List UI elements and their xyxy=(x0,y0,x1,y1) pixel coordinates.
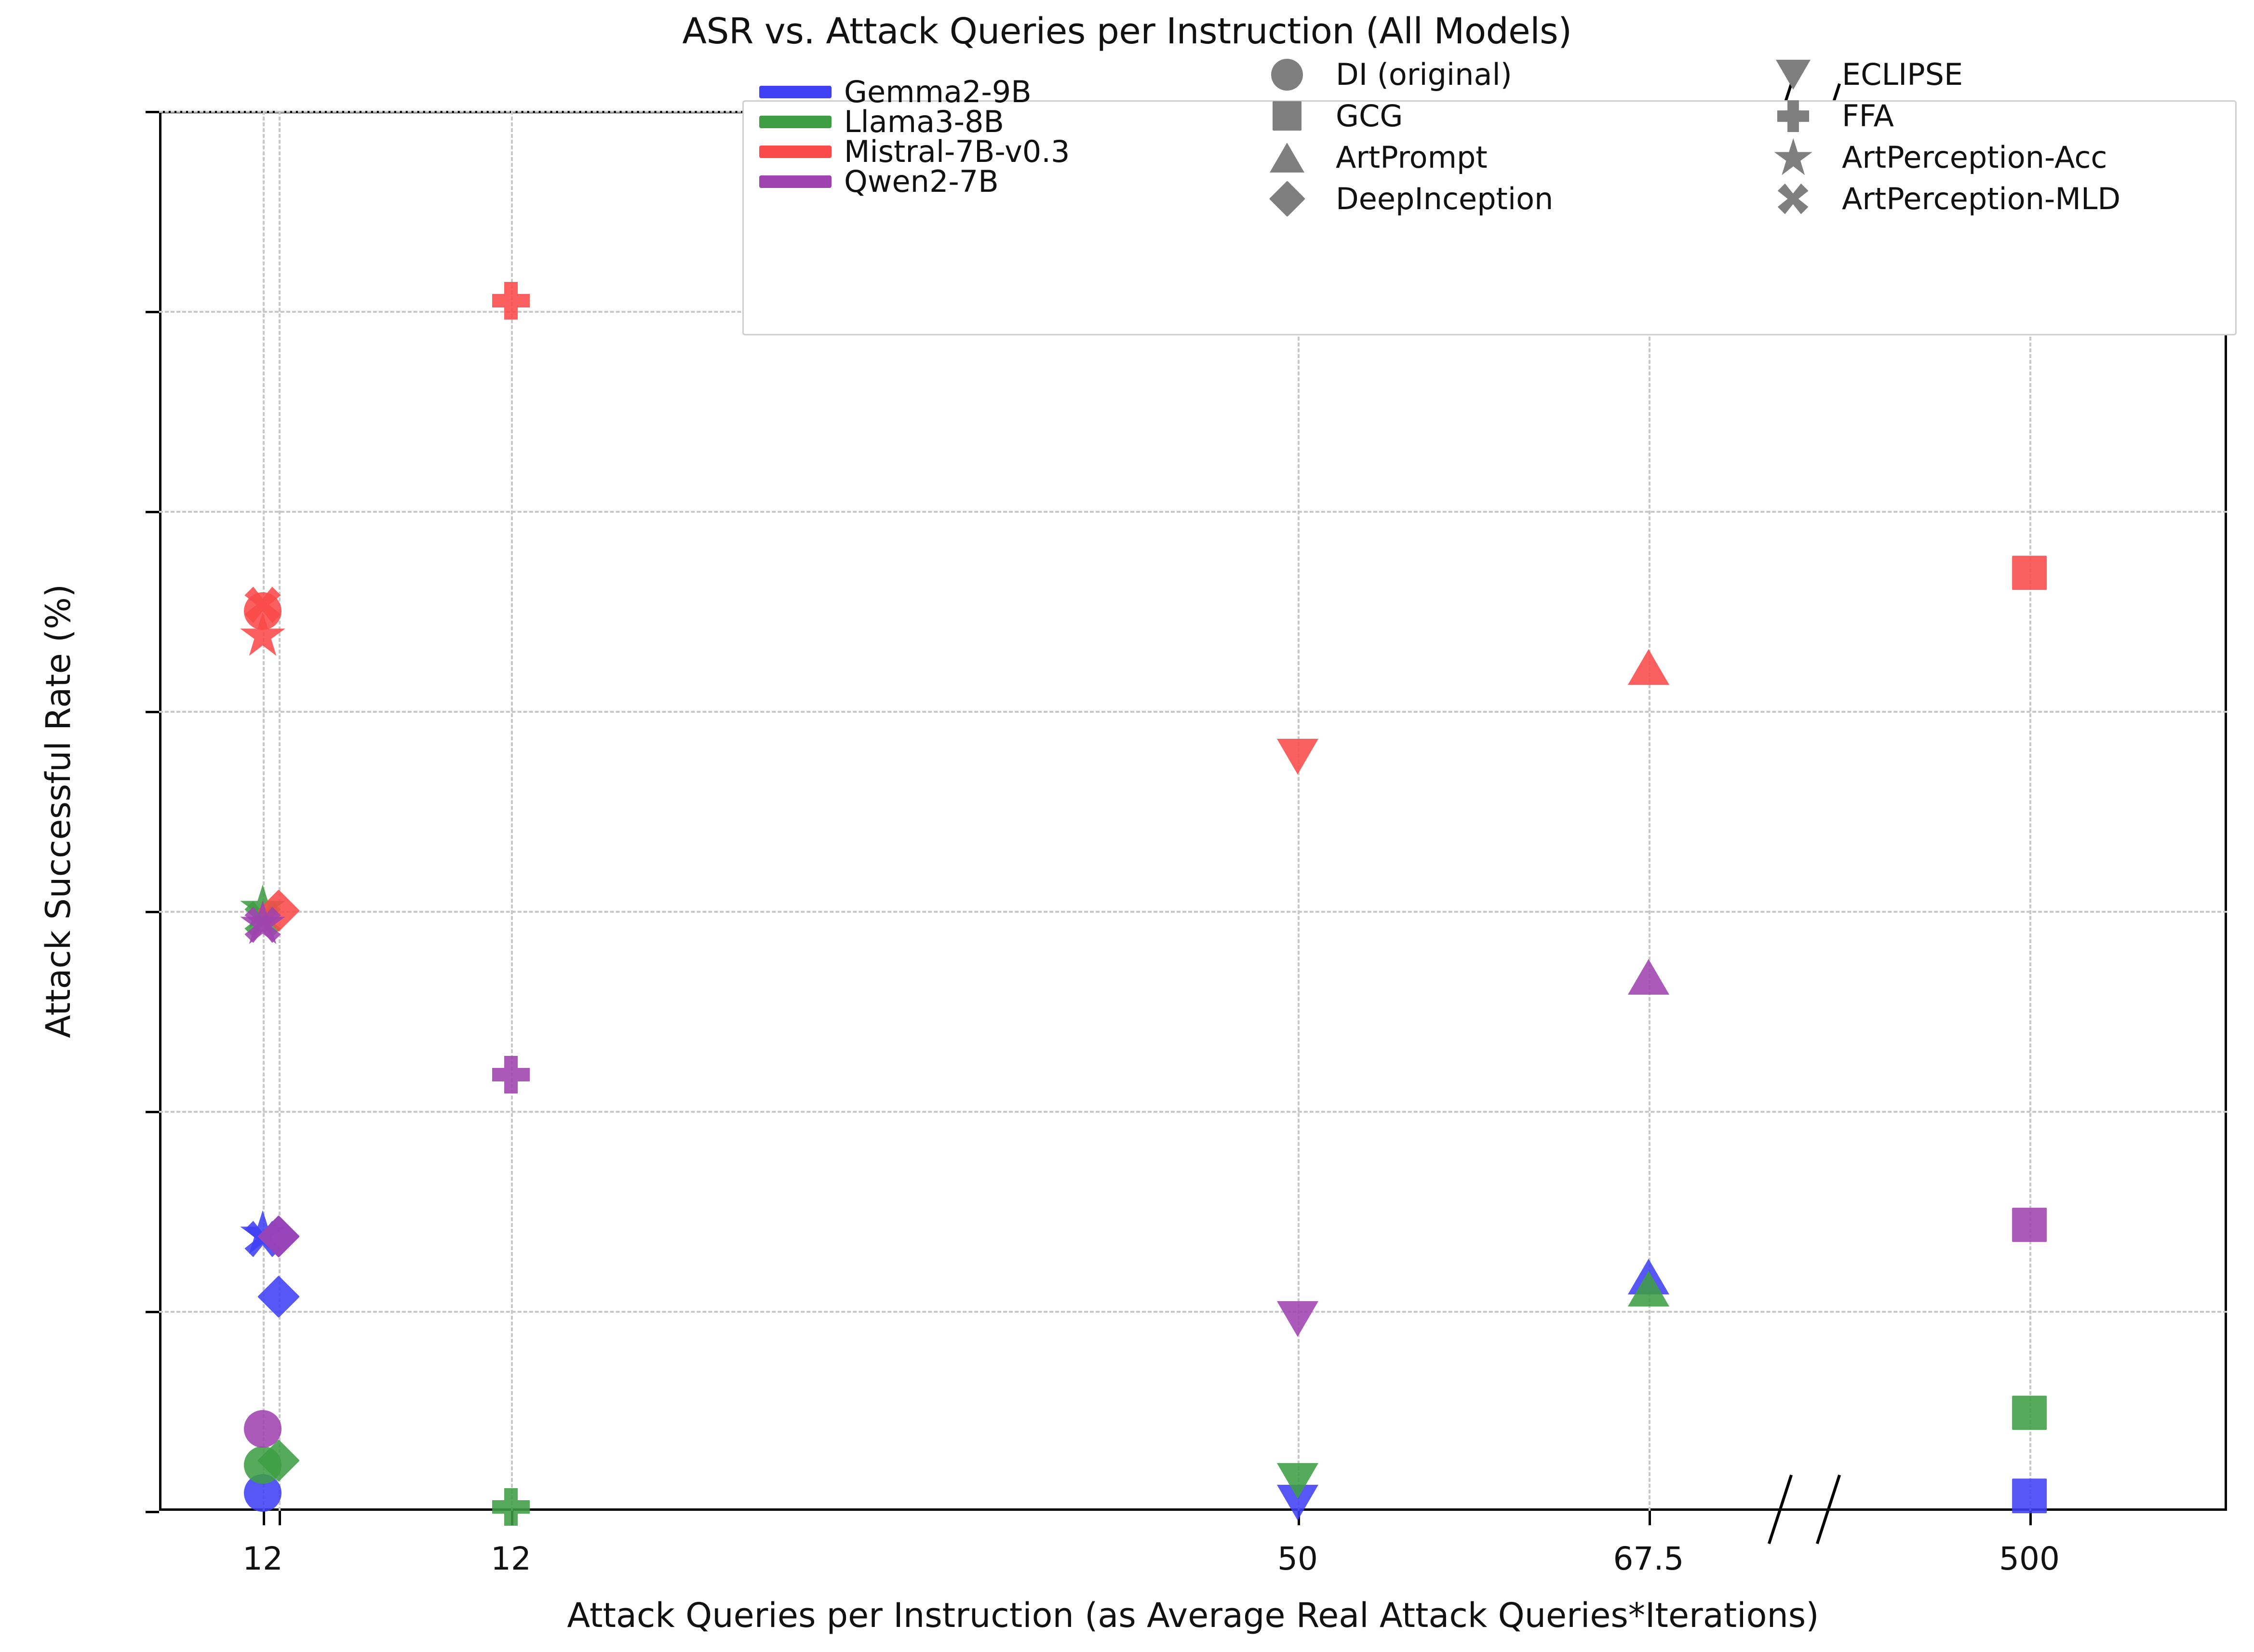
legend-item-method[interactable]: DI (original) xyxy=(1240,54,1746,95)
legend-label: DeepInception xyxy=(1336,184,1553,214)
legend-label: Llama3-8B xyxy=(844,107,1004,137)
data-point-square[interactable] xyxy=(2012,1396,2047,1430)
legend-item-method[interactable]: ArtPrompt xyxy=(1240,137,1746,178)
data-point-triangle-down[interactable] xyxy=(1277,739,1318,774)
data-point-x-thick[interactable] xyxy=(243,585,282,625)
x-axis-label: Attack Queries per Instruction (as Avera… xyxy=(159,1596,2227,1635)
data-point-plus[interactable] xyxy=(492,1488,530,1526)
legend-item-method[interactable]: ArtPerception-MLD xyxy=(1746,178,2233,220)
legend-column-methods-b: ECLIPSEFFAArtPerception-AccArtPerception… xyxy=(1746,54,2233,220)
x-tick-label: 12 xyxy=(491,1540,531,1577)
data-point-plus[interactable] xyxy=(492,282,530,320)
legend-triangle-down-icon xyxy=(1757,54,1829,95)
legend-color-swatch xyxy=(759,175,832,188)
legend-item-method[interactable]: ArtPerception-Acc xyxy=(1746,137,2233,178)
legend-label: GCG xyxy=(1336,101,1403,131)
legend-label: ArtPerception-Acc xyxy=(1842,143,2107,173)
legend-square-icon xyxy=(1251,95,1323,137)
data-point-square[interactable] xyxy=(2012,1479,2047,1513)
gridline-horizontal xyxy=(159,511,2227,513)
legend-plus-icon xyxy=(1757,95,1829,137)
gridline-horizontal xyxy=(159,1111,2227,1113)
legend-diamond-icon xyxy=(1251,178,1323,220)
legend-item-model[interactable]: Qwen2-7B xyxy=(749,167,1240,197)
y-tick-mark xyxy=(146,1311,159,1313)
legend-item-model[interactable]: Llama3-8B xyxy=(749,107,1240,137)
gridline-vertical xyxy=(511,111,513,1511)
data-point-square[interactable] xyxy=(2012,1208,2047,1242)
legend-item-model[interactable]: Mistral-7B-v0.3 xyxy=(749,137,1240,167)
x-tick-mark xyxy=(263,1511,265,1525)
legend[interactable]: Gemma2-9BLlama3-8BMistral-7B-v0.3Qwen2-7… xyxy=(742,100,2237,335)
y-axis-label: Attack Successful Rate (%) xyxy=(39,584,78,1038)
y-tick-mark xyxy=(146,911,159,913)
y-tick-mark xyxy=(146,711,159,713)
x-tick-mark xyxy=(279,1511,281,1525)
data-point-circle[interactable] xyxy=(244,1410,282,1448)
gridline-horizontal xyxy=(159,1311,2227,1313)
legend-triangle-up-icon xyxy=(1251,137,1323,178)
x-tick-label: 50 xyxy=(1277,1540,1318,1577)
legend-label: ECLIPSE xyxy=(1842,60,1963,90)
gridline-horizontal xyxy=(159,911,2227,913)
data-point-x-thick[interactable] xyxy=(243,905,282,945)
data-point-plus[interactable] xyxy=(492,1056,530,1093)
legend-color-swatch xyxy=(759,116,832,128)
chart-figure: ASR vs. Attack Queries per Instruction (… xyxy=(0,0,2254,1652)
legend-item-method[interactable]: ECLIPSE xyxy=(1746,54,2233,95)
data-point-triangle-up[interactable] xyxy=(1628,649,1669,685)
legend-star-icon xyxy=(1757,137,1829,178)
legend-label: FFA xyxy=(1842,101,1894,131)
y-tick-mark xyxy=(146,1511,159,1513)
legend-column-models: Gemma2-9BLlama3-8BMistral-7B-v0.3Qwen2-7… xyxy=(749,77,1240,197)
legend-color-swatch xyxy=(759,86,832,98)
data-point-square[interactable] xyxy=(2012,556,2047,590)
legend-label: ArtPrompt xyxy=(1336,143,1488,173)
legend-circle-icon xyxy=(1251,54,1323,95)
legend-label: DI (original) xyxy=(1336,60,1512,90)
y-tick-mark xyxy=(146,111,159,113)
legend-color-swatch xyxy=(759,146,832,158)
legend-x-thick-icon xyxy=(1757,178,1829,220)
legend-item-method[interactable]: GCG xyxy=(1240,95,1746,137)
y-tick-mark xyxy=(146,1111,159,1113)
legend-item-model[interactable]: Gemma2-9B xyxy=(749,77,1240,107)
legend-label: Gemma2-9B xyxy=(844,77,1032,107)
y-tick-mark xyxy=(146,511,159,513)
x-tick-label: 12 xyxy=(242,1540,283,1577)
x-tick-label: 67.5 xyxy=(1613,1540,1684,1577)
legend-column-methods-a: DI (original)GCGArtPromptDeepInception xyxy=(1240,54,1746,220)
legend-label: Qwen2-7B xyxy=(844,167,999,197)
legend-item-method[interactable]: FFA xyxy=(1746,95,2233,137)
x-tick-mark xyxy=(1649,1511,1651,1525)
legend-label: Mistral-7B-v0.3 xyxy=(844,137,1070,167)
data-point-triangle-down[interactable] xyxy=(1277,1463,1318,1499)
gridline-horizontal xyxy=(159,711,2227,713)
data-point-triangle-down[interactable] xyxy=(1277,1301,1318,1337)
data-point-triangle-up[interactable] xyxy=(1628,1271,1669,1306)
legend-label: ArtPerception-MLD xyxy=(1842,184,2120,214)
y-tick-mark xyxy=(146,311,159,313)
page-title: ASR vs. Attack Queries per Instruction (… xyxy=(0,11,2254,52)
legend-item-method[interactable]: DeepInception xyxy=(1240,178,1746,220)
data-point-triangle-up[interactable] xyxy=(1628,959,1669,995)
x-tick-label: 500 xyxy=(1999,1540,2060,1577)
